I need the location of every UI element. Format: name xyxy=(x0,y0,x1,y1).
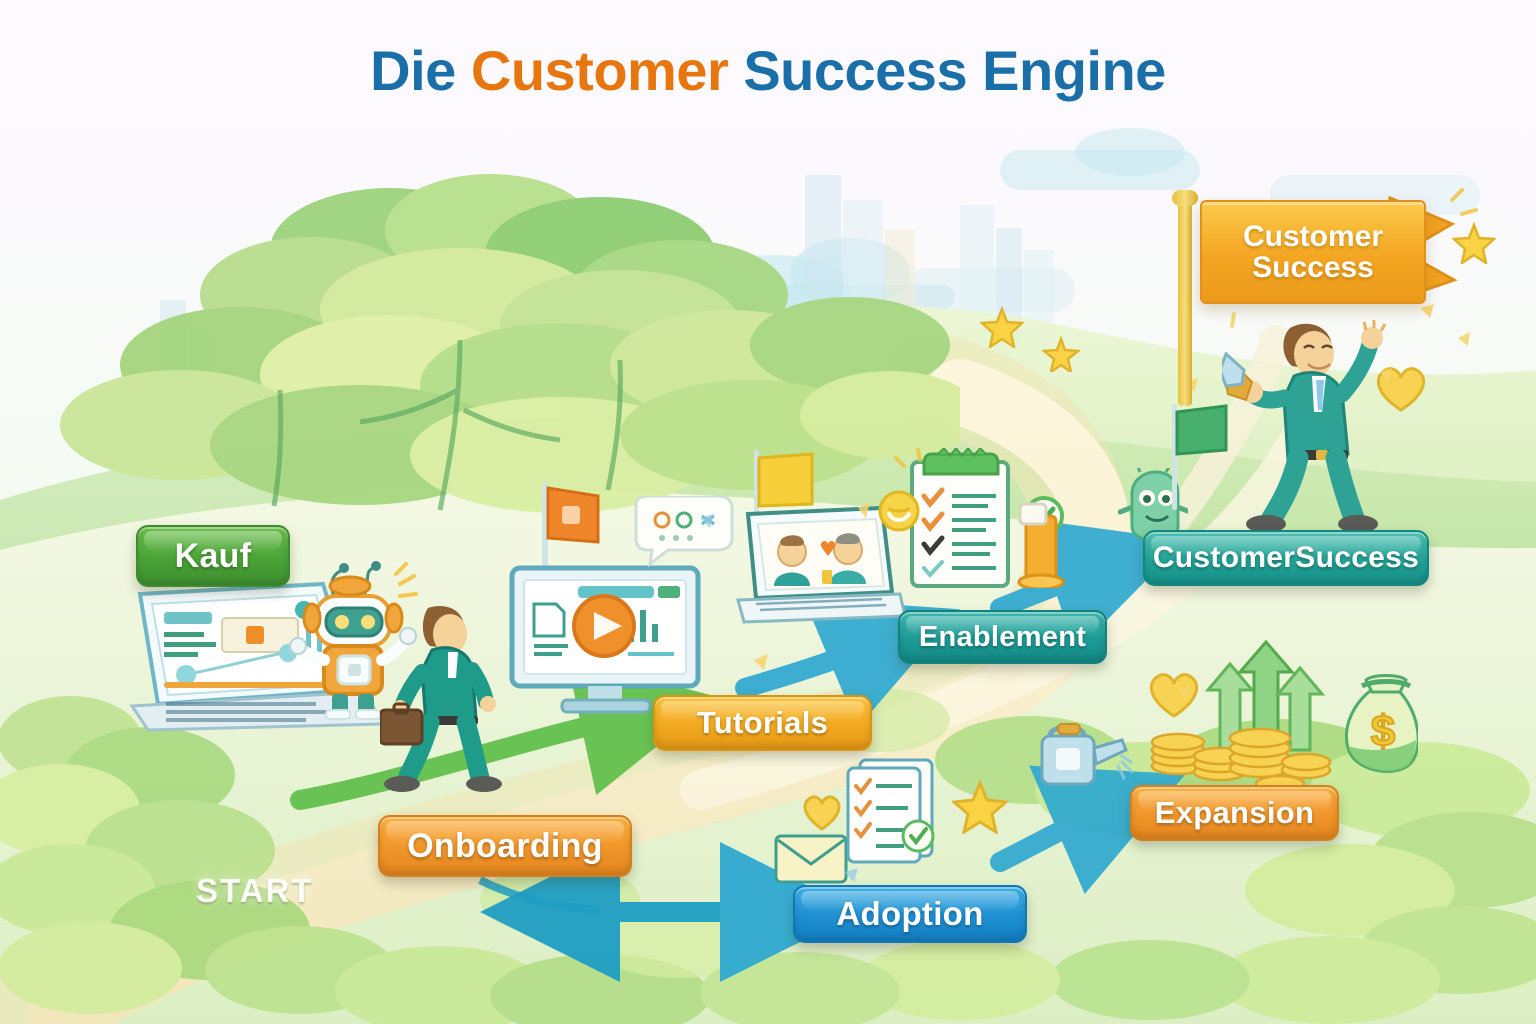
infographic-canvas: $ Customer Success KaufOnboardingTutoria… xyxy=(0,0,1536,1024)
banner-line-1: Customer xyxy=(1243,221,1383,253)
title-part-1: Die xyxy=(370,39,471,102)
stage-label-text: Adoption xyxy=(836,895,983,933)
stage-label-customersuccess[interactable]: CustomerSuccess xyxy=(1143,530,1429,586)
stage-label-text: Kauf xyxy=(175,537,252,576)
start-label: START xyxy=(196,872,314,910)
customer-success-banner: Customer Success xyxy=(1200,200,1426,304)
stage-label-adoption[interactable]: Adoption xyxy=(793,885,1027,943)
stage-label-expansion[interactable]: Expansion xyxy=(1130,785,1339,841)
stage-label-onboarding[interactable]: Onboarding xyxy=(378,815,632,877)
stage-label-kauf[interactable]: Kauf xyxy=(136,525,290,587)
stage-label-text: Enablement xyxy=(919,621,1086,654)
title-part-2: Customer xyxy=(471,39,743,102)
stage-label-tutorials[interactable]: Tutorials xyxy=(653,695,872,751)
page-title: Die Customer Success Engine xyxy=(0,38,1536,103)
banner-line-2: Success xyxy=(1252,252,1374,284)
stage-label-text: Expansion xyxy=(1155,795,1314,831)
stage-label-text: CustomerSuccess xyxy=(1153,541,1419,575)
stage-label-enablement[interactable]: Enablement xyxy=(898,610,1107,664)
stage-label-text: Tutorials xyxy=(697,705,828,741)
sparkle-decor xyxy=(0,0,1536,1024)
stage-label-text: Onboarding xyxy=(407,827,603,866)
title-part-3: Success Engine xyxy=(743,39,1166,102)
